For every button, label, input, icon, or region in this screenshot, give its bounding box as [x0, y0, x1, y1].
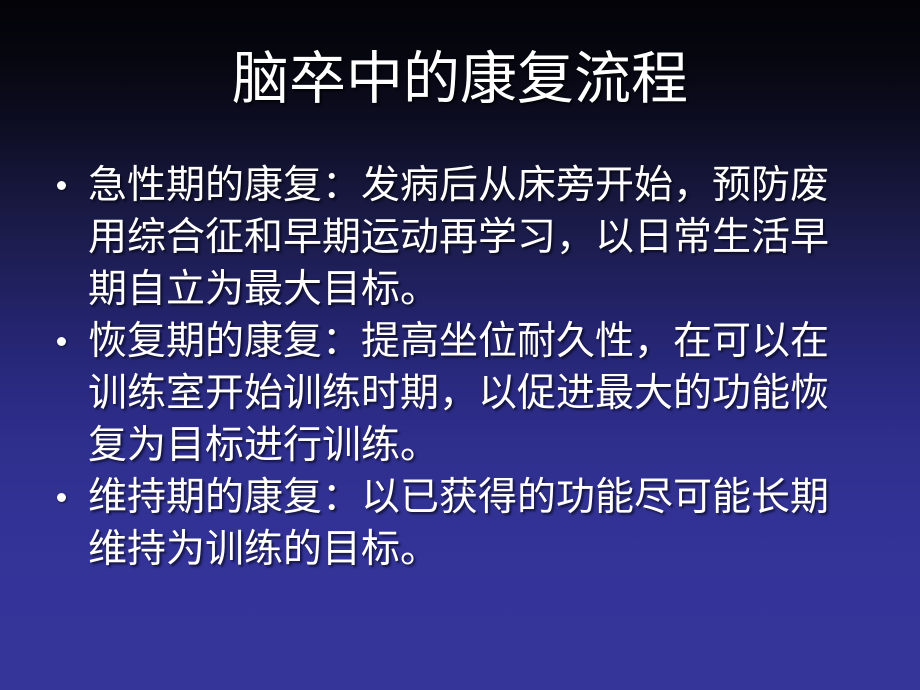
list-item-label: 恢复期的康复：提高坐位耐久性，在可以在训练室开始训练时期，以促进最大的功能恢复为… — [88, 316, 852, 472]
list-item-label: 维持期的康复：以已获得的功能尽可能长期维持为训练的目标。 — [88, 472, 852, 576]
page-title: 脑卒中的康复流程 — [0, 46, 920, 112]
list-item: 维持期的康复：以已获得的功能尽可能长期维持为训练的目标。 — [52, 472, 852, 576]
bullet-dot-icon — [57, 493, 66, 502]
list-item-label: 急性期的康复：发病后从床旁开始，预防废用综合征和早期运动再学习，以日常生活早期自… — [88, 160, 852, 316]
list-item: 恢复期的康复：提高坐位耐久性，在可以在训练室开始训练时期，以促进最大的功能恢复为… — [52, 316, 852, 472]
bullet-dot-icon — [57, 181, 66, 190]
presentation-slide: 脑卒中的康复流程 急性期的康复：发病后从床旁开始，预防废用综合征和早期运动再学习… — [0, 0, 920, 690]
bullet-dot-icon — [57, 337, 66, 346]
list-item: 急性期的康复：发病后从床旁开始，预防废用综合征和早期运动再学习，以日常生活早期自… — [52, 160, 852, 316]
bullet-list: 急性期的康复：发病后从床旁开始，预防废用综合征和早期运动再学习，以日常生活早期自… — [52, 160, 852, 576]
